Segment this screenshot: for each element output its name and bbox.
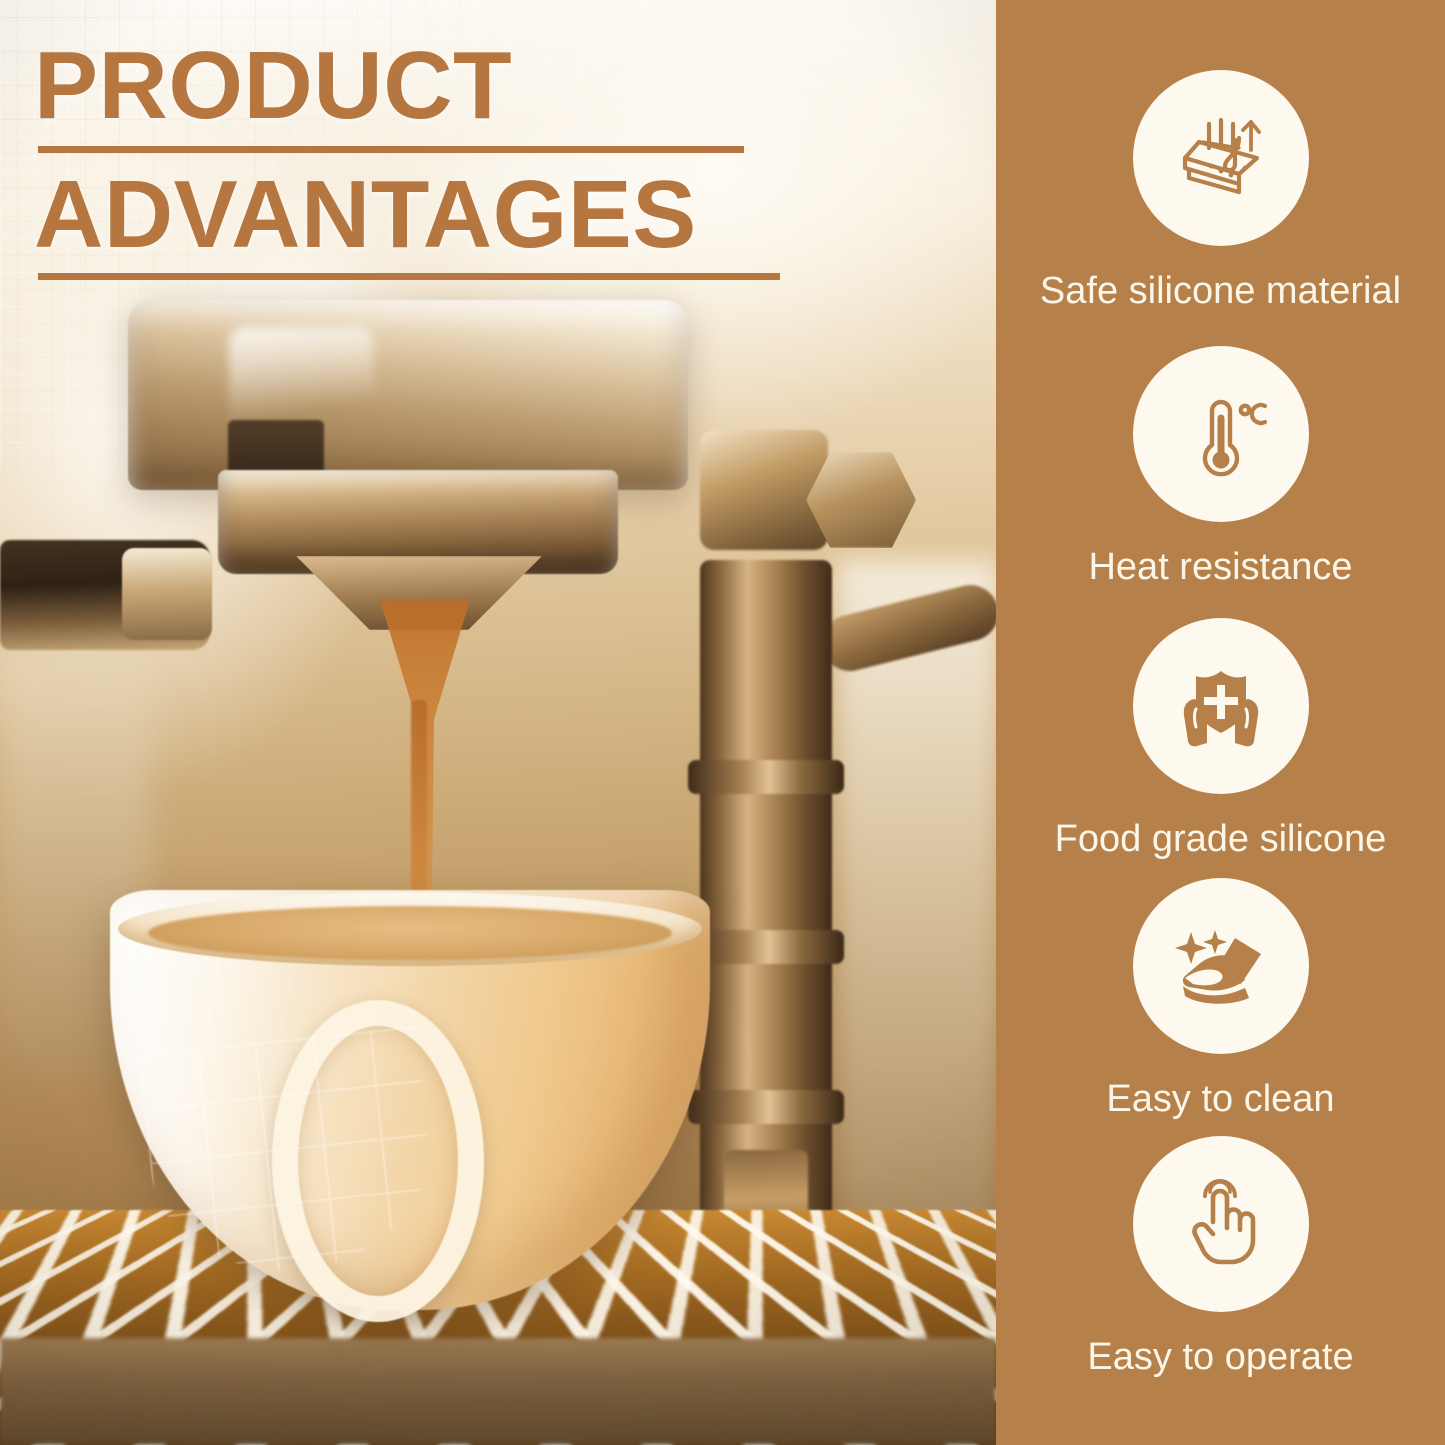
drip-tray-front xyxy=(0,1338,996,1445)
product-photo: PRODUCT ADVANTAGES xyxy=(0,0,996,1445)
title-line-product: PRODUCT xyxy=(34,38,794,134)
feature-item: Easy to operate xyxy=(996,1136,1445,1378)
feature-item: Food grade silicone xyxy=(996,618,1445,860)
steam-pipe-ring xyxy=(688,760,844,794)
feature-label: Heat resistance xyxy=(1088,548,1352,588)
feature-label: Easy to operate xyxy=(1087,1338,1353,1378)
hand-sponge-sparkle-icon xyxy=(1133,878,1309,1054)
steam-pipe-ring xyxy=(688,930,844,964)
hands-holding-shield-icon xyxy=(1133,618,1309,794)
feature-label: Food grade silicone xyxy=(1055,820,1387,860)
espresso-group-head xyxy=(128,300,688,490)
title-line-advantages: ADVANTAGES xyxy=(34,167,794,263)
feature-item: Heat resistance xyxy=(996,346,1445,588)
feature-item: Safe silicone material xyxy=(996,70,1445,312)
waterproof-layered-fabric-icon xyxy=(1133,70,1309,246)
steam-pipe-ring xyxy=(688,1090,844,1124)
features-sidebar: Safe silicone material Heat resistance xyxy=(996,0,1445,1445)
machine-valve xyxy=(700,430,828,550)
feature-item: Easy to clean xyxy=(996,878,1445,1120)
title-underline-2 xyxy=(38,273,780,280)
cup-interior-coffee xyxy=(148,906,672,960)
title-underline-1 xyxy=(38,146,744,153)
portafilter-collar xyxy=(122,548,212,640)
page-title: PRODUCT ADVANTAGES xyxy=(34,38,794,294)
product-advantages-banner: PRODUCT ADVANTAGES xyxy=(0,0,1445,1445)
feature-label: Easy to clean xyxy=(1106,1080,1334,1120)
thermometer-celsius-icon xyxy=(1133,346,1309,522)
tapping-hand-pointer-icon xyxy=(1133,1136,1309,1312)
feature-label: Safe silicone material xyxy=(1040,272,1401,312)
